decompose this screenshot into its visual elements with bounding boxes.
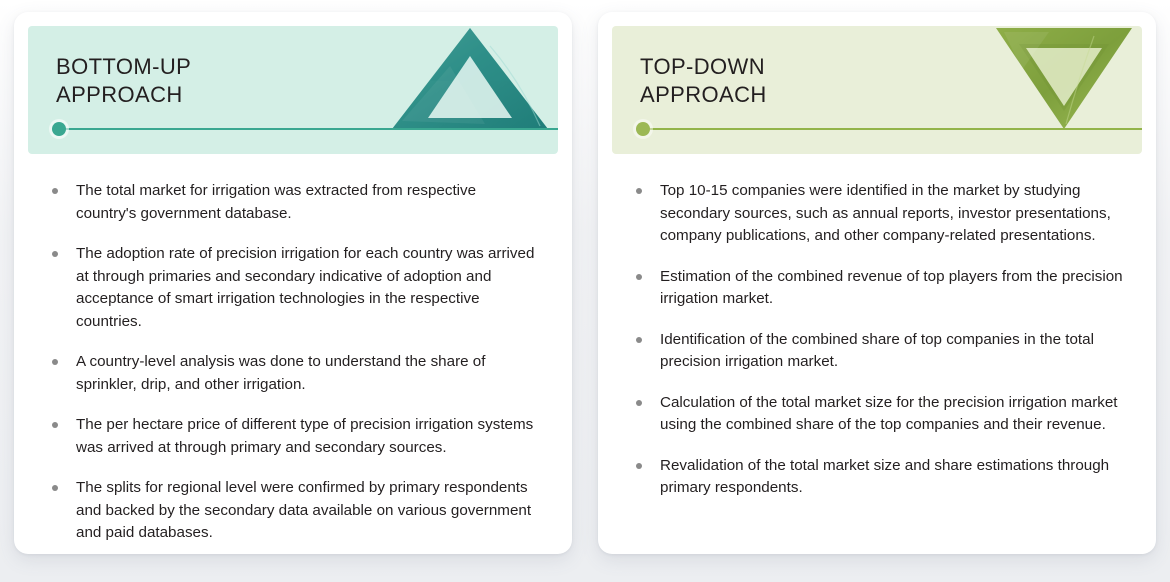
card-header-bottom-up: BOTTOM-UP APPROACH [28, 26, 558, 154]
list-item-text: A country-level analysis was done to und… [76, 353, 485, 393]
bullet-dot-icon [636, 337, 642, 343]
bullet-list-top-down: Top 10-15 companies were identified in t… [628, 180, 1124, 500]
triangle-up-icon [390, 26, 550, 131]
list-item: Top 10-15 companies were identified in t… [628, 180, 1124, 248]
card-title-top-down: TOP-DOWN APPROACH [640, 53, 767, 109]
list-item: Estimation of the combined revenue of to… [628, 266, 1124, 311]
card-bottom-up: BOTTOM-UP APPROACH The total market for … [14, 12, 572, 554]
bullet-dot-icon [52, 485, 58, 491]
list-item-text: The total market for irrigation was extr… [76, 182, 476, 222]
list-item: The splits for regional level were confi… [44, 477, 540, 545]
bullet-dot-icon [636, 400, 642, 406]
list-item-text: The per hectare price of different type … [76, 416, 533, 456]
list-item-text: Top 10-15 companies were identified in t… [660, 182, 1111, 244]
list-item-text: Calculation of the total market size for… [660, 394, 1118, 434]
list-item: Identification of the combined share of … [628, 329, 1124, 374]
accent-dot-bottom-up [52, 122, 66, 136]
list-item-text: Estimation of the combined revenue of to… [660, 268, 1123, 308]
list-item: Revalidation of the total market size an… [628, 455, 1124, 500]
list-item: A country-level analysis was done to und… [44, 351, 540, 396]
bullet-dot-icon [52, 359, 58, 365]
bullet-dot-icon [636, 274, 642, 280]
list-item-text: Identification of the combined share of … [660, 331, 1094, 371]
list-item-text: The splits for regional level were confi… [76, 479, 531, 541]
list-item-text: Revalidation of the total market size an… [660, 457, 1109, 497]
bullet-dot-icon [52, 188, 58, 194]
triangle-down-icon [974, 26, 1134, 131]
bullet-dot-icon [636, 463, 642, 469]
methodology-board: BOTTOM-UP APPROACH The total market for … [0, 0, 1170, 582]
bullet-dot-icon [636, 188, 642, 194]
bullet-dot-icon [52, 422, 58, 428]
accent-rule-top-down [642, 128, 1142, 130]
list-item: The adoption rate of precision irrigatio… [44, 243, 540, 333]
list-item-text: The adoption rate of precision irrigatio… [76, 245, 534, 330]
card-body-bottom-up: The total market for irrigation was extr… [28, 154, 558, 553]
bullet-list-bottom-up: The total market for irrigation was extr… [44, 180, 540, 545]
card-header-top-down: TOP-DOWN APPROACH [612, 26, 1142, 154]
bullet-dot-icon [52, 251, 58, 257]
list-item: The total market for irrigation was extr… [44, 180, 540, 225]
card-top-down: TOP-DOWN APPROACH Top 10-15 companies we… [598, 12, 1156, 554]
list-item: Calculation of the total market size for… [628, 392, 1124, 437]
accent-rule-bottom-up [58, 128, 558, 130]
card-title-bottom-up: BOTTOM-UP APPROACH [56, 53, 191, 109]
list-item: The per hectare price of different type … [44, 414, 540, 459]
card-body-top-down: Top 10-15 companies were identified in t… [612, 154, 1142, 538]
accent-dot-top-down [636, 122, 650, 136]
